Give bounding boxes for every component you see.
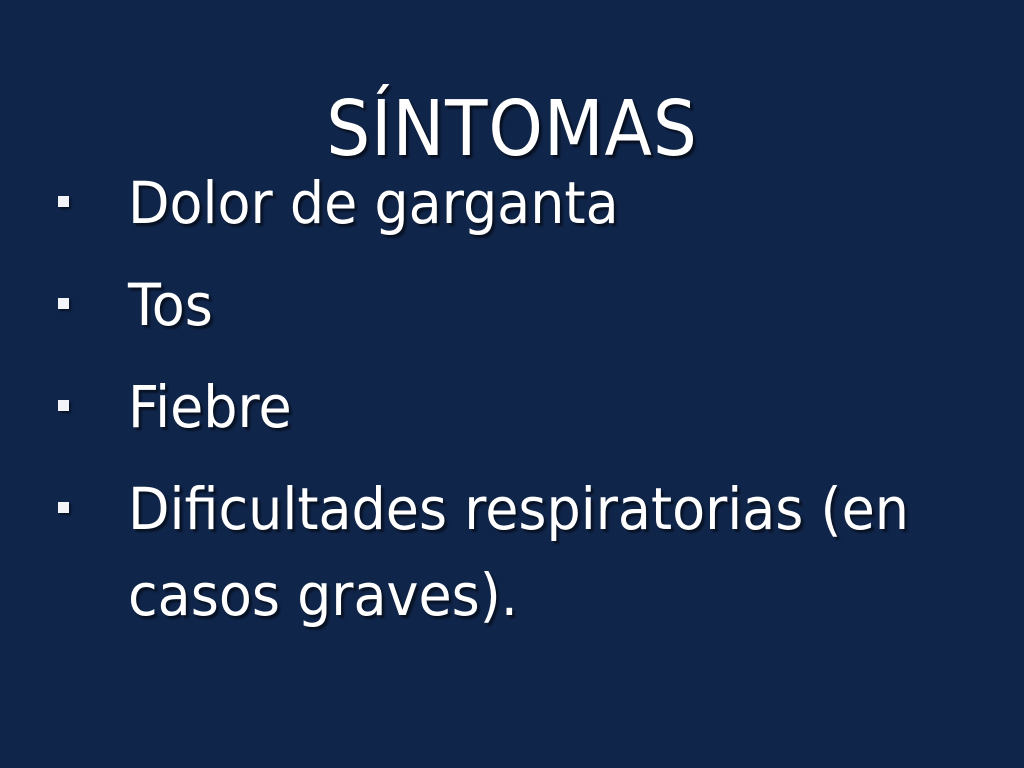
- page-title: SÍNTOMAS: [51, 88, 973, 172]
- list-item: Tos: [0, 262, 1024, 348]
- list-item-label: Tos: [128, 262, 924, 348]
- symptom-list: Dolor de garganta Tos Fiebre Dificultade…: [0, 160, 1024, 654]
- list-item-label: Dificultades respiratorias (en casos gra…: [128, 466, 924, 638]
- list-item: Dificultades respiratorias (en casos gra…: [0, 466, 1024, 638]
- list-item-label: Fiebre: [128, 364, 924, 450]
- list-item: Fiebre: [0, 364, 1024, 450]
- square-bullet-icon: [58, 502, 69, 513]
- list-item-label: Dolor de garganta: [128, 160, 924, 246]
- slide-canvas: SÍNTOMAS Dolor de garganta Tos Fiebre Di…: [0, 0, 1024, 768]
- square-bullet-icon: [58, 196, 69, 207]
- list-item: Dolor de garganta: [0, 160, 1024, 246]
- square-bullet-icon: [58, 400, 69, 411]
- square-bullet-icon: [58, 298, 69, 309]
